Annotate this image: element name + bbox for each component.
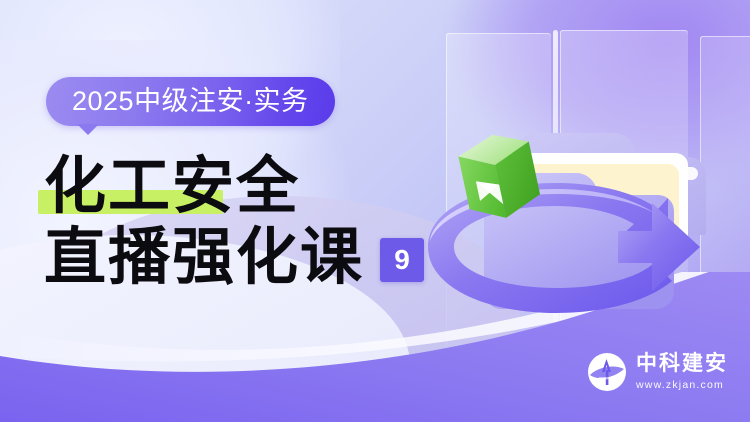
course-badge: 2025中级注安·实务 <box>46 77 335 126</box>
headline-line-1: 化工安全 <box>44 152 300 222</box>
course-badge-pill: 2025中级注安·实务 <box>46 77 335 126</box>
course-illustration <box>400 95 730 345</box>
course-badge-label: 2025中级注安·实务 <box>72 88 309 115</box>
headline-line-2: 直播强化课 <box>44 222 364 294</box>
brand-url: www.zkjan.com <box>636 379 728 391</box>
headline-block: 化工安全 直播强化课 9 <box>44 152 424 294</box>
episode-number-badge: 9 <box>380 238 424 282</box>
brand-name: 中科建安 <box>636 353 728 375</box>
course-poster: 2025中级注安·实务 化工安全 直播强化课 9 中科建安 www.zkjan.… <box>0 0 750 422</box>
course-badge-tail <box>77 124 99 135</box>
brand-logo: 中科建安 www.zkjan.com <box>587 352 728 392</box>
headline-line-1-row: 化工安全 <box>44 152 424 222</box>
circle-person-icon <box>587 352 627 392</box>
episode-number: 9 <box>394 246 410 274</box>
headline-line-2-row: 直播强化课 9 <box>44 222 424 294</box>
